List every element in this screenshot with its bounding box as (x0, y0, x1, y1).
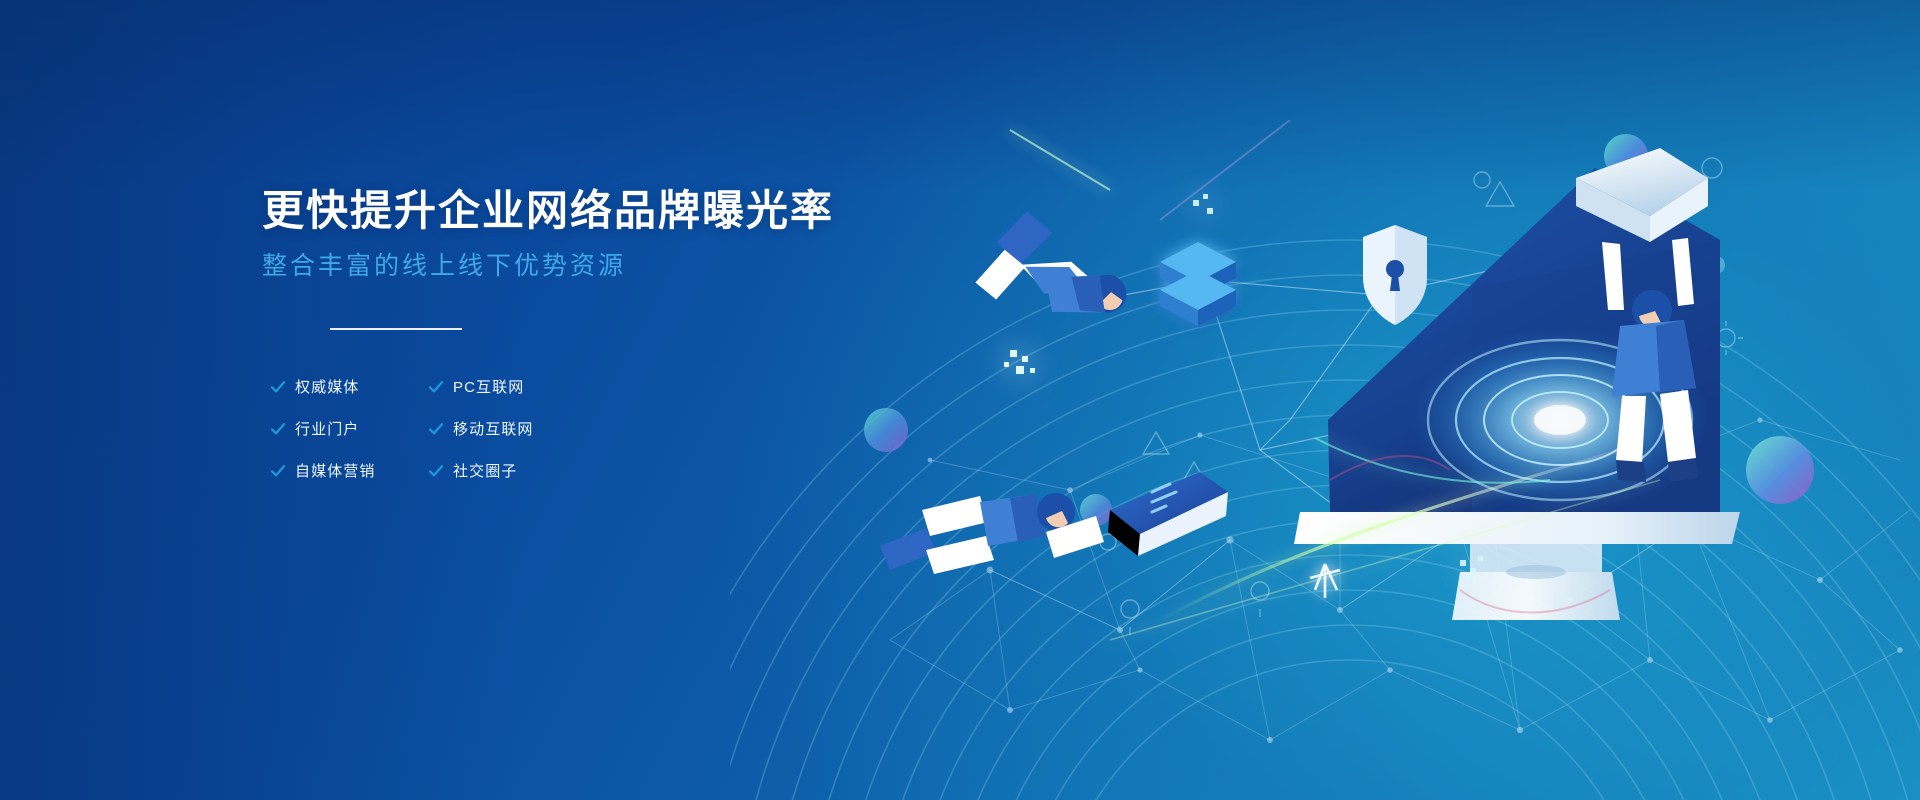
feature-label: 移动互联网 (453, 418, 534, 439)
hero-illustration (860, 120, 1860, 680)
page-title: 更快提升企业网络品牌曝光率 (262, 186, 902, 236)
feature-label: 社交圈子 (453, 460, 517, 481)
feature-label: 自媒体营销 (295, 460, 376, 481)
title-divider (330, 328, 462, 330)
feature-item: 社交圈子 (428, 458, 902, 483)
floating-person-lower-left (880, 493, 1104, 574)
gradient-sphere (1746, 436, 1814, 504)
feature-label: 行业门户 (295, 418, 359, 439)
feature-item: PC互联网 (428, 374, 902, 399)
diagonal-streak (1160, 120, 1290, 220)
feature-item: 行业门户 (270, 416, 428, 441)
feature-label: PC互联网 (453, 376, 524, 397)
diagonal-streak (1010, 130, 1110, 190)
check-icon (270, 379, 286, 395)
server-stack-icon (1160, 242, 1236, 326)
feature-list: 权威媒体 PC互联网 行业门户 移动互联网 (270, 374, 902, 483)
check-icon (428, 421, 444, 437)
feature-item: 权威媒体 (270, 374, 428, 399)
smartphone-device (1108, 472, 1228, 556)
check-icon (270, 421, 286, 437)
check-icon (428, 463, 444, 479)
hero-banner: 更快提升企业网络品牌曝光率 整合丰富的线上线下优势资源 权威媒体 PC互联网 (0, 0, 1920, 800)
feature-item: 自媒体营销 (270, 458, 428, 483)
feature-label: 权威媒体 (295, 376, 359, 397)
page-subtitle: 整合丰富的线上线下优势资源 (262, 250, 902, 283)
floating-person-upper-left (958, 187, 1133, 358)
check-icon (428, 379, 444, 395)
hero-copy-block: 更快提升企业网络品牌曝光率 整合丰富的线上线下优势资源 权威媒体 PC互联网 (262, 186, 902, 483)
shield-lock-icon (1363, 225, 1427, 325)
feature-item: 移动互联网 (428, 416, 902, 441)
check-icon (270, 463, 286, 479)
